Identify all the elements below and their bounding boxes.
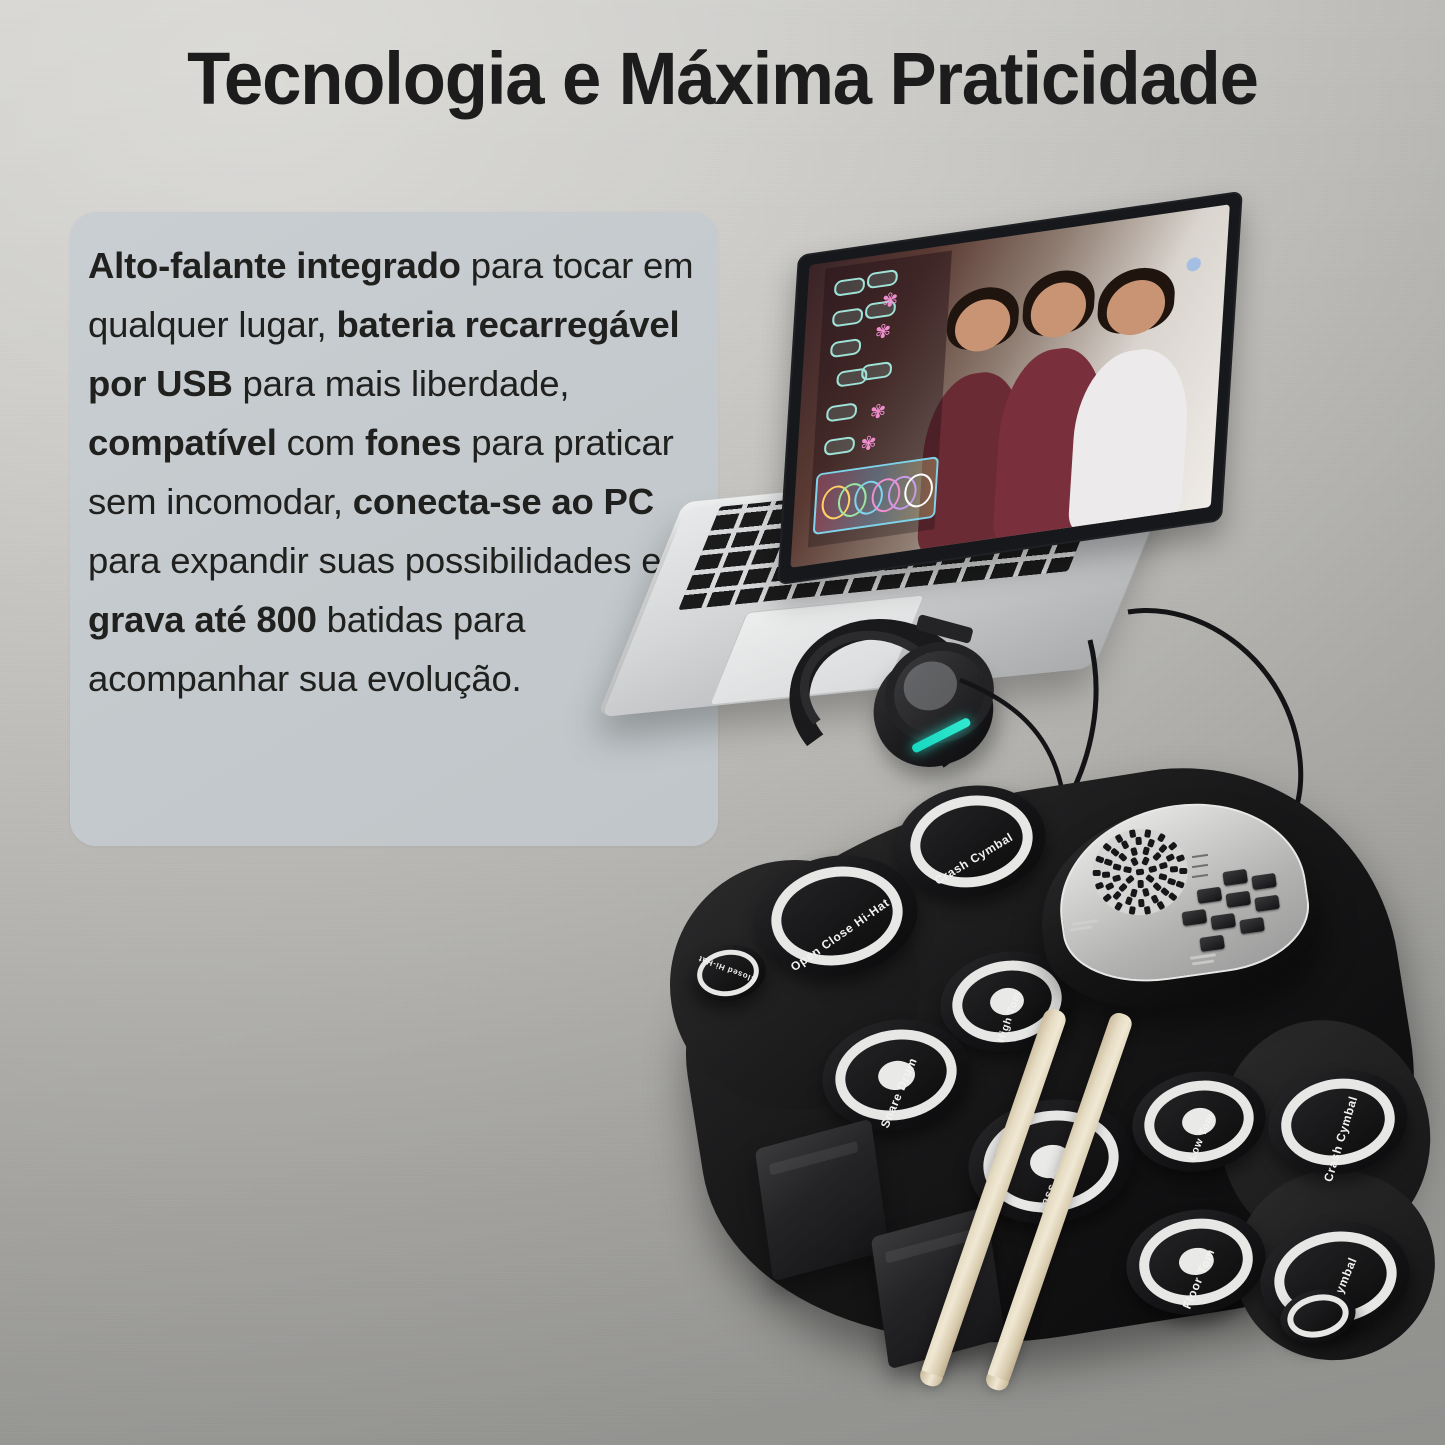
product-banner: Tecnologia e Máxima Praticidade Alto-fal…	[0, 0, 1445, 1445]
speaker-grille-hole	[1152, 851, 1162, 861]
feature-text-emphasis: Alto-falante integrado	[88, 245, 461, 286]
control-module-button-5[interactable]	[1254, 895, 1280, 912]
speaker-grille-hole	[1130, 847, 1138, 856]
speaker-grille-hole	[1158, 873, 1167, 881]
feature-text-emphasis: fones	[365, 422, 461, 463]
speaker-grille-hole	[1157, 833, 1166, 843]
speaker-grille-hole	[1102, 871, 1110, 877]
control-module-button-9[interactable]	[1199, 935, 1225, 952]
speaker-grille-hole	[1095, 882, 1105, 890]
feature-text-emphasis: compatível	[88, 422, 277, 463]
control-module-button-4[interactable]	[1225, 891, 1251, 908]
speaker-grille-hole	[1123, 866, 1132, 873]
speaker-grille-hole	[1176, 854, 1186, 862]
speaker-grille-hole	[1141, 856, 1150, 866]
control-module-button-7[interactable]	[1210, 913, 1236, 930]
speaker-grille-hole	[1112, 874, 1121, 882]
speaker-grille-hole	[1112, 890, 1122, 900]
speaker-grille-hole	[1125, 875, 1135, 885]
speaker-grille-hole	[1170, 866, 1178, 872]
speaker-grille-hole	[1179, 868, 1187, 874]
drum-pad-rim	[764, 857, 911, 975]
control-module	[1040, 795, 1330, 1020]
control-module-button-8[interactable]	[1239, 917, 1265, 934]
control-module-buttons[interactable]	[1177, 864, 1291, 960]
speaker-grille-hole	[1112, 863, 1121, 871]
speaker-grille-hole	[1142, 888, 1150, 897]
laptop-lid: ✾ ✾ ✾ ✾	[777, 191, 1243, 586]
laptop-screen: ✾ ✾ ✾ ✾	[790, 204, 1230, 568]
speaker-grille-hole	[1147, 838, 1155, 848]
screen-ui-overlay: ✾ ✾ ✾ ✾	[808, 250, 952, 547]
speaker-grille-hole	[1104, 881, 1114, 890]
speaker-grille-hole	[1114, 901, 1123, 911]
speaker-grille-hole	[1145, 874, 1155, 884]
control-module-button-3[interactable]	[1197, 887, 1223, 904]
speaker-grille-hole	[1135, 837, 1141, 845]
speaker-grille-hole	[1148, 865, 1157, 873]
control-module-button-1[interactable]	[1222, 869, 1248, 886]
speaker-grille-hole	[1124, 896, 1132, 906]
speaker-grille-hole	[1158, 844, 1168, 854]
speaker-grille-hole	[1103, 858, 1113, 866]
speaker-grille-hole	[1159, 862, 1168, 870]
speaker-grille-hole	[1166, 854, 1176, 863]
speaker-grille-hole	[1130, 888, 1138, 897]
speaker-grille-hole	[1138, 898, 1144, 906]
control-module-button-2[interactable]	[1251, 873, 1277, 890]
feature-text-plain: com	[277, 422, 365, 463]
speaker-grille-hole	[1143, 906, 1150, 915]
speaker-grille-hole	[1102, 893, 1112, 903]
speaker-grille-hole	[1130, 857, 1139, 867]
speaker-grille-hole	[1144, 829, 1151, 838]
feature-text-plain: para mais liberdade,	[233, 363, 570, 404]
speaker-grille-hole	[1093, 870, 1101, 876]
speaker-grille-hole	[1128, 906, 1135, 915]
feature-text-emphasis: grava até 800	[88, 599, 317, 640]
speaker-grille-hole	[1136, 868, 1145, 875]
page-title: Tecnologia e Máxima Praticidade	[33, 36, 1413, 121]
speaker-grille-hole	[1137, 880, 1143, 888]
speaker-grille-hole	[1168, 842, 1178, 852]
drum-pad-rim	[903, 787, 1039, 896]
screen-ui-progress-bar	[813, 456, 939, 535]
speaker-grille-hole	[1142, 846, 1150, 855]
speaker-grille-hole	[1118, 852, 1128, 862]
control-module-button-6[interactable]	[1182, 909, 1208, 926]
speaker-grille-hole	[1118, 883, 1128, 893]
